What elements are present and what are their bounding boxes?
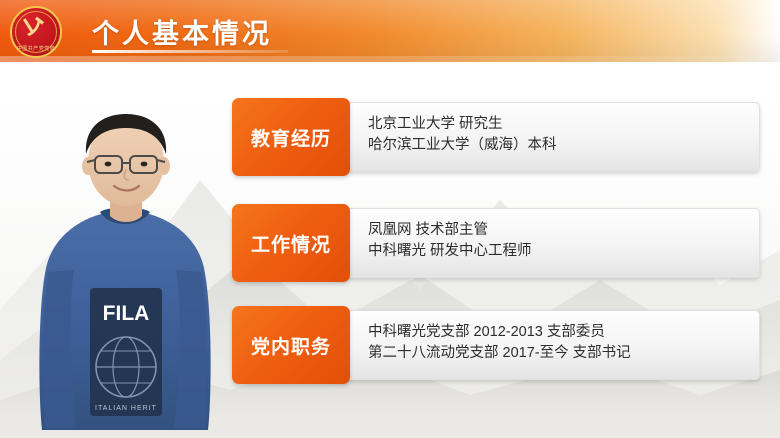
portrait-photo: FILA ITALIAN HERIT <box>18 92 232 438</box>
party-duty-line-1: 中科曙光党支部 2012-2013 支部委员 <box>368 322 760 343</box>
work-tag-label: 工作情况 <box>232 204 350 282</box>
info-row-party-duty: 党内职务 中科曙光党支部 2012-2013 支部委员 第二十八流动党支部 20… <box>232 306 760 384</box>
party-duty-content: 中科曙光党支部 2012-2013 支部委员 第二十八流动党支部 2017-至今… <box>368 322 760 364</box>
svg-text:ITALIAN HERIT: ITALIAN HERIT <box>95 405 157 412</box>
page-title: 个人基本情况 <box>92 12 272 51</box>
info-row-education: 教育经历 北京工业大学 研究生 哈尔滨工业大学（威海）本科 <box>232 98 760 176</box>
info-row-work: 工作情况 凤凰网 技术部主管 中科曙光 研发中心工程师 <box>232 204 760 282</box>
work-line-1: 凤凰网 技术部主管 <box>368 220 760 241</box>
party-duty-line-2: 第二十八流动党支部 2017-至今 支部书记 <box>368 343 760 364</box>
slide-canvas: 中国共产党党徽 个人基本情况 <box>0 0 780 438</box>
education-line-2: 哈尔滨工业大学（威海）本科 <box>368 135 760 156</box>
emblem-caption: 中国共产党党徽 <box>12 45 60 52</box>
education-tag-label: 教育经历 <box>232 98 350 176</box>
svg-text:FILA: FILA <box>103 302 150 325</box>
party-emblem-icon: 中国共产党党徽 <box>10 6 62 58</box>
work-content: 凤凰网 技术部主管 中科曙光 研发中心工程师 <box>368 220 760 262</box>
hammer-sickle-icon <box>23 15 49 39</box>
title-underline <box>92 50 288 53</box>
party-duty-tag-label: 党内职务 <box>232 306 350 384</box>
education-content: 北京工业大学 研究生 哈尔滨工业大学（威海）本科 <box>368 114 760 156</box>
education-line-1: 北京工业大学 研究生 <box>368 114 760 135</box>
banner-band <box>0 56 780 62</box>
work-line-2: 中科曙光 研发中心工程师 <box>368 241 760 262</box>
